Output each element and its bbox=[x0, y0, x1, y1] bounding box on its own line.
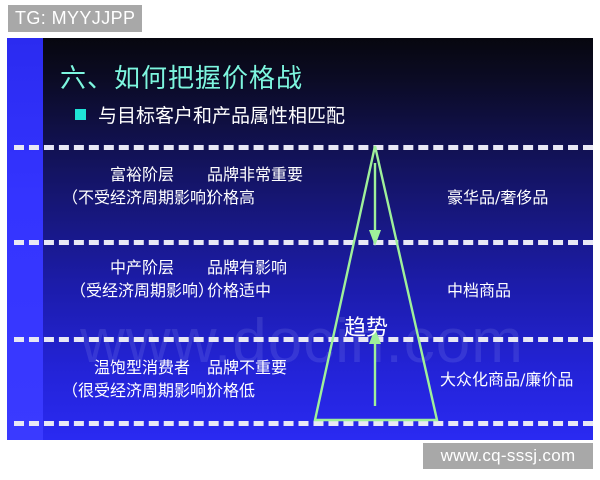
row-2-attribute-line2: 价格适中 bbox=[207, 279, 287, 302]
trend-label: 趋势 bbox=[344, 310, 388, 342]
row-2-attribute-line1: 品牌有影响 bbox=[207, 256, 287, 279]
row-3-attribute: 品牌不重要 价格低 bbox=[207, 356, 287, 402]
row-3-product: 大众化商品/廉价品 bbox=[440, 368, 573, 391]
divider-line-3 bbox=[14, 337, 593, 342]
bottom-watermark-tag: www.cq-sssj.com bbox=[423, 443, 593, 469]
divider-line-2 bbox=[14, 240, 593, 245]
row-2-attribute: 品牌有影响 价格适中 bbox=[207, 256, 287, 302]
row-3-attribute-line1: 品牌不重要 bbox=[207, 356, 287, 379]
slide-bullet-row: 与目标客户和产品属性相匹配 bbox=[75, 101, 345, 128]
row-1-attribute: 品牌非常重要 价格高 bbox=[207, 163, 303, 209]
slide-bullet-text: 与目标客户和产品属性相匹配 bbox=[98, 101, 345, 128]
square-bullet-icon bbox=[75, 109, 86, 120]
pyramid-outline bbox=[315, 146, 437, 420]
wechat-account-badge: 政商经讯 bbox=[477, 437, 576, 440]
row-1-attribute-line2: 价格高 bbox=[207, 186, 303, 209]
row-3-attribute-line2: 价格低 bbox=[207, 379, 287, 402]
slide-title: 六、如何把握价格战 bbox=[60, 58, 303, 95]
top-watermark-tag: TG: MYYJJPP bbox=[8, 5, 142, 32]
presentation-slide: www.docin.com 六、如何把握价格战 与目标客户和产品属性相匹配 趋势… bbox=[7, 38, 593, 440]
row-1-product: 豪华品/奢侈品 bbox=[447, 186, 548, 209]
row-2-product: 中档商品 bbox=[447, 279, 511, 302]
row-1-attribute-line1: 品牌非常重要 bbox=[207, 163, 303, 186]
divider-line-1 bbox=[14, 145, 593, 150]
divider-line-4 bbox=[14, 421, 593, 426]
wechat-account-name: 政商经讯 bbox=[508, 437, 576, 440]
